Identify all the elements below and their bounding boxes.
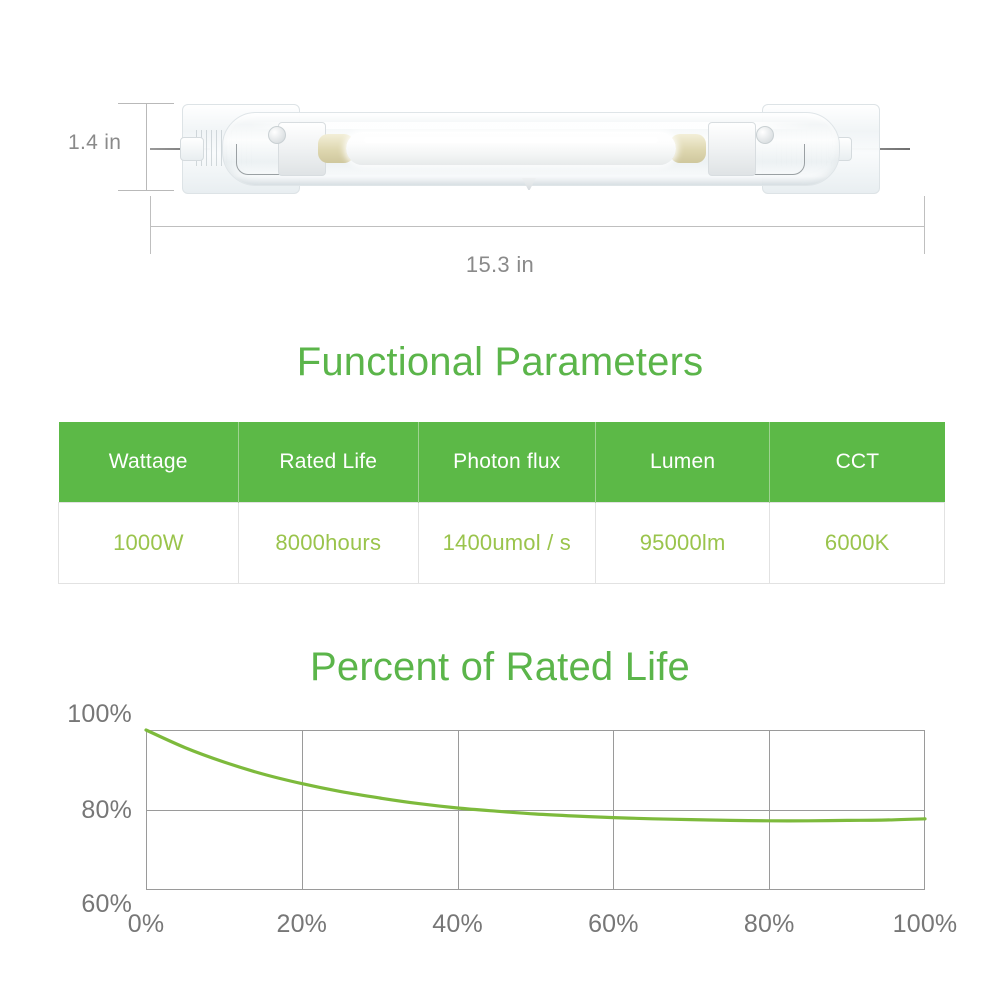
table-header-lumen: Lumen <box>595 422 770 503</box>
length-dimension-left-cap <box>150 196 151 254</box>
length-dimension-line <box>150 226 925 227</box>
height-dimension-line <box>146 103 147 191</box>
length-dimension-right-cap <box>924 196 925 254</box>
lamp-cap-collar-left <box>180 137 204 161</box>
table-header-wattage: Wattage <box>59 422 239 503</box>
table-row: 1000W 8000hours 1400umol / s 95000lm 600… <box>59 503 945 584</box>
chart-x-tick-0: 0% <box>86 910 206 939</box>
table-cell-cct: 6000K <box>770 503 945 584</box>
table-header-row: Wattage Rated Life Photon flux Lumen CCT <box>59 422 945 503</box>
table-header-photon-flux: Photon flux <box>418 422 595 503</box>
product-dimension-section: 1.4 in 15.3 in <box>0 0 1000 310</box>
table-cell-wattage: 1000W <box>59 503 239 584</box>
percent-of-rated-life-chart: 100%80%60% 0%20%40%60%80%100% <box>0 700 1000 960</box>
table-header-rated-life: Rated Life <box>238 422 418 503</box>
lamp-product-image <box>150 104 910 192</box>
rated-life-heading: Percent of Rated Life <box>0 645 1000 690</box>
chart-series-line <box>146 730 925 890</box>
chart-x-tick-40: 40% <box>398 910 518 939</box>
chart-x-tick-100: 100% <box>865 910 985 939</box>
chart-x-tick-20: 20% <box>242 910 362 939</box>
lamp-electrode-mount-right <box>708 122 756 176</box>
chart-x-tick-60: 60% <box>553 910 673 939</box>
lamp-mount-knob-left <box>268 126 286 144</box>
chart-x-tick-80: 80% <box>709 910 829 939</box>
chart-y-tick-100: 100% <box>22 700 132 729</box>
chart-y-tick-80: 80% <box>22 796 132 825</box>
table-cell-lumen: 95000lm <box>595 503 770 584</box>
table-cell-rated-life: 8000hours <box>238 503 418 584</box>
lamp-arc-tube <box>346 132 676 165</box>
specifications-table: Wattage Rated Life Photon flux Lumen CCT… <box>58 422 945 584</box>
table-header-cct: CCT <box>770 422 945 503</box>
table-cell-photon-flux: 1400umol / s <box>418 503 595 584</box>
height-dimension-label: 1.4 in <box>68 131 121 155</box>
lamp-mount-knob-right <box>756 126 774 144</box>
length-dimension-label: 15.3 in <box>0 252 1000 278</box>
functional-parameters-heading: Functional Parameters <box>0 340 1000 385</box>
